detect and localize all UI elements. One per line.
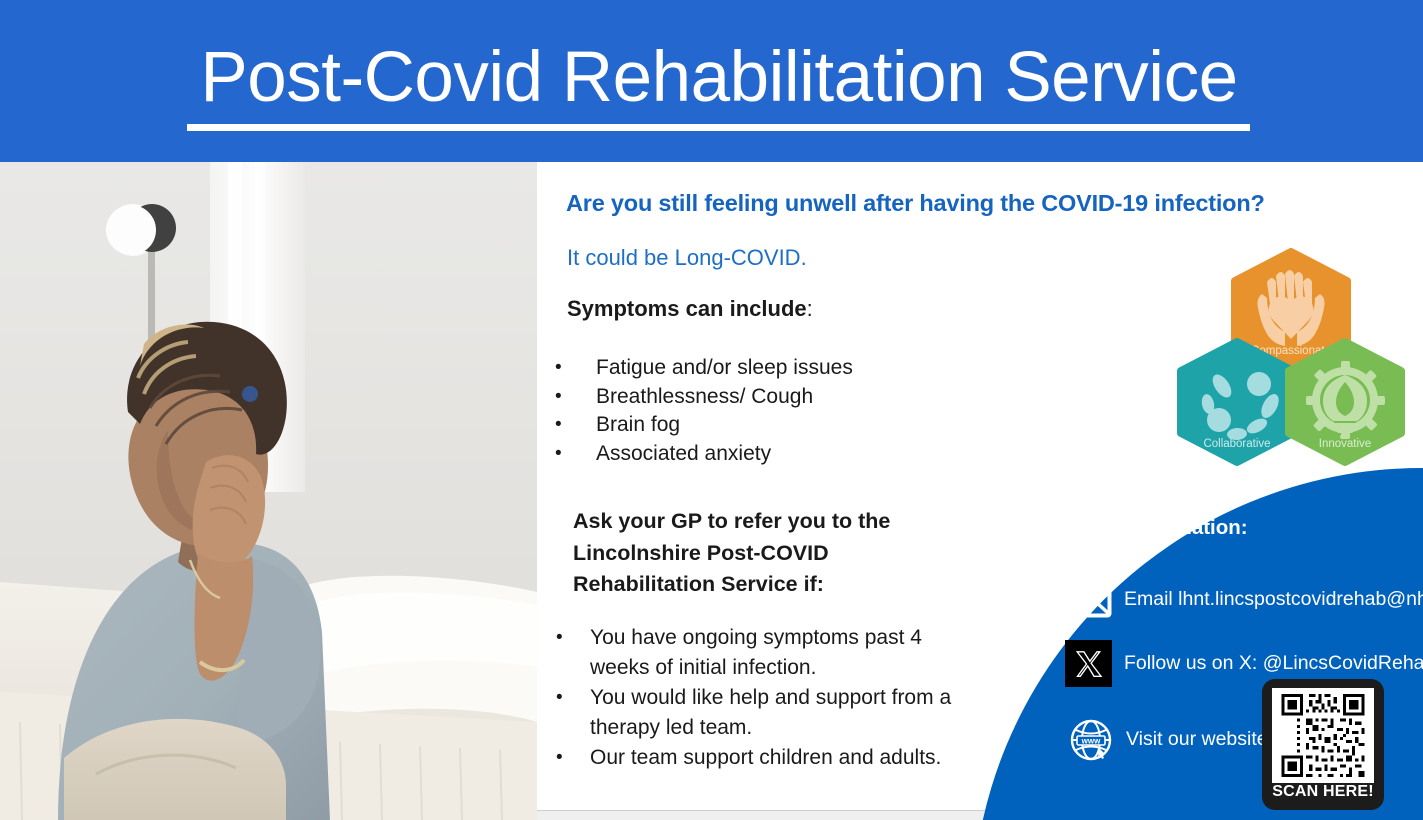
- bullet-glyph: •: [555, 411, 562, 440]
- svg-text:www: www: [1080, 736, 1100, 745]
- bullet-glyph: •: [556, 743, 563, 773]
- hexagon-label-innovative: Innovative: [1319, 438, 1371, 450]
- hero-photo: [0, 162, 537, 820]
- list-item: • Associated anxiety: [550, 440, 970, 469]
- hexagon-innovative: Innovative: [1289, 342, 1401, 462]
- more-information-title: More information:: [940, 516, 1423, 540]
- list-item: • You would like help and support from a…: [550, 683, 980, 743]
- referral-list: • You have ongoing symptoms past 4 weeks…: [550, 623, 980, 773]
- list-item: • Breathlessness/ Cough: [550, 383, 970, 412]
- list-item-label: You would like help and support from a t…: [590, 686, 951, 739]
- envelope-icon: [1065, 576, 1112, 623]
- list-item-label: Brain fog: [596, 413, 680, 436]
- symptoms-label: Symptoms can include:: [567, 296, 813, 322]
- x-twitter-icon: [1065, 640, 1112, 687]
- list-item-label: Fatigue and/or sleep issues: [596, 356, 853, 379]
- list-item-label: Our team support children and adults.: [590, 746, 941, 769]
- list-item: • Fatigue and/or sleep issues: [550, 354, 970, 383]
- bullet-glyph: •: [555, 354, 562, 383]
- symptoms-list: • Fatigue and/or sleep issues • Breathle…: [550, 354, 970, 468]
- question-heading: Are you still feeling unwell after havin…: [566, 190, 1265, 217]
- list-item: • Brain fog: [550, 411, 970, 440]
- website-label: Visit our website:: [1126, 728, 1273, 751]
- symptoms-label-colon: :: [807, 296, 813, 321]
- list-item-label: Associated anxiety: [596, 442, 771, 465]
- hexagon-label-collaborative: Collaborative: [1203, 438, 1270, 450]
- list-item: • Our team support children and adults.: [550, 743, 980, 773]
- symptoms-label-bold: Symptoms can include: [567, 296, 807, 321]
- website-row[interactable]: www Visit our website:: [1067, 716, 1273, 763]
- title-underline: [187, 124, 1250, 131]
- photo-illustration: [0, 162, 537, 820]
- qr-code-block[interactable]: SCAN HERE!: [1262, 679, 1384, 810]
- lightbulb-gear-icon: [1306, 361, 1385, 439]
- page-title: Post-Covid Rehabilitation Service: [186, 38, 1252, 118]
- list-item-label: You have ongoing symptoms past 4 weeks o…: [590, 626, 922, 679]
- header-banner: Post-Covid Rehabilitation Service: [0, 0, 1423, 162]
- email-row[interactable]: Email lhnt.lincspostcovidrehab@nhs.net: [1065, 576, 1423, 623]
- email-label: Email lhnt.lincspostcovidrehab@nhs.net: [1124, 588, 1423, 611]
- qr-code-image: [1272, 688, 1374, 783]
- nhs-values-logo: Compassionate Collaborative: [1175, 248, 1407, 466]
- bullet-glyph: •: [555, 440, 562, 469]
- bullet-glyph: •: [556, 683, 563, 713]
- list-item: • You have ongoing symptoms past 4 weeks…: [550, 623, 980, 683]
- hexagon-collaborative: Collaborative: [1181, 342, 1293, 462]
- bullet-glyph: •: [555, 383, 562, 412]
- referral-heading: Ask your GP to refer you to the Lincolns…: [573, 506, 943, 601]
- globe-www-icon: www: [1067, 716, 1114, 763]
- qr-scan-label: SCAN HERE!: [1262, 783, 1384, 801]
- x-handle-label: Follow us on X: @LincsCovidRehab: [1124, 652, 1423, 675]
- long-covid-subline: It could be Long-COVID.: [567, 245, 807, 271]
- list-item-label: Breathlessness/ Cough: [596, 385, 813, 408]
- poster-root: Post-Covid Rehabilitation Service: [0, 0, 1423, 820]
- bullet-glyph: •: [556, 623, 563, 653]
